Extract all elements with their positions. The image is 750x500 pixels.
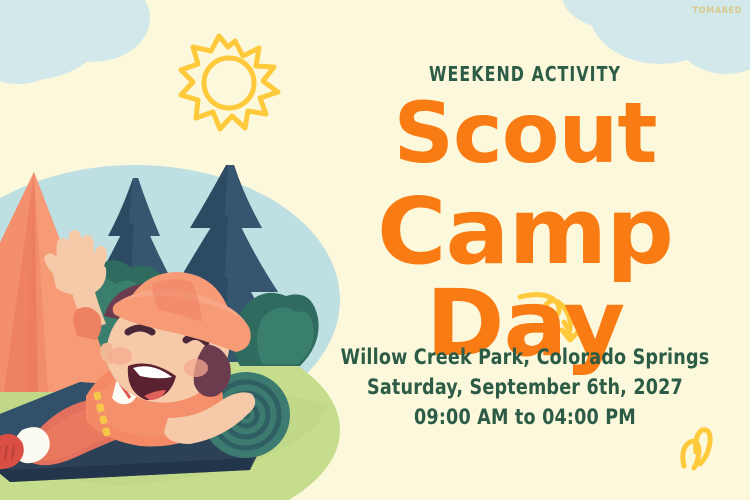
poster-canvas: WEEKEND ACTIVITY Scout Camp Day Willow C… (0, 0, 750, 500)
event-location: Willow Creek Park, Colorado Springs (316, 343, 735, 373)
watermark-label: TOMARED (693, 6, 742, 16)
event-date: Saturday, September 6th, 2027 (316, 373, 735, 403)
event-details: Willow Creek Park, Colorado Springs Satu… (316, 343, 735, 432)
sun-icon (181, 36, 278, 129)
eyebrow-label: WEEKEND ACTIVITY (327, 62, 723, 86)
title-line-one: Scout (300, 92, 750, 174)
event-time: 09:00 AM to 04:00 PM (316, 403, 735, 433)
text-column: WEEKEND ACTIVITY Scout Camp Day Willow C… (300, 0, 750, 500)
